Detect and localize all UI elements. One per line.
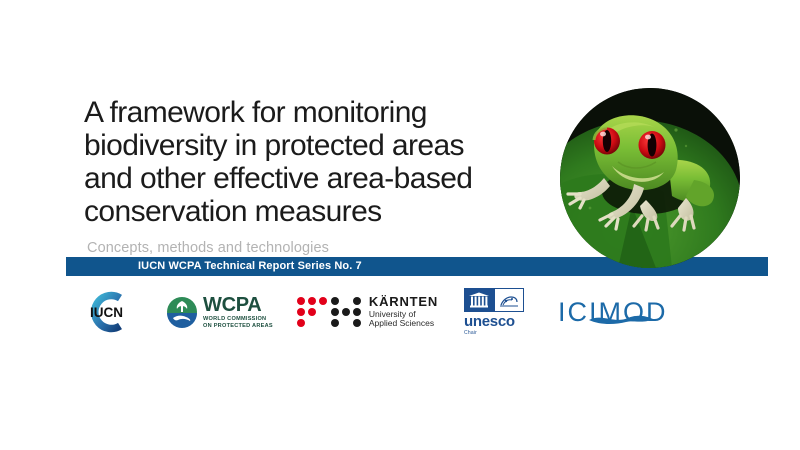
icimod-wave-icon [588,313,654,325]
kaernten-wordmark: KÄRNTEN [369,295,438,310]
logo-icimod: ICIMOD [558,287,668,337]
title-line-2: biodiversity in protected areas [84,129,524,162]
iucn-icon: IUCN [76,290,142,334]
kaernten-dot-grid-icon [297,297,361,327]
title-block: A framework for monitoring biodiversity … [84,96,524,256]
title-line-4: conservation measures [84,195,524,228]
page-title: A framework for monitoring biodiversity … [84,96,524,228]
kaernten-black-dots [331,297,361,327]
logo-wcpa: WCPA WORLD COMMISSION ON PROTECTED AREAS [166,287,273,337]
wcpa-emblem-icon [166,296,198,328]
svg-text:IUCN: IUCN [90,305,123,320]
logo-iucn: IUCN [76,287,148,337]
kaernten-wordmark-block: KÄRNTEN University of Applied Sciences [369,295,438,329]
kaernten-line-2: Applied Sciences [369,319,438,329]
unesco-chair-label: Chair [464,330,524,336]
wcpa-wordmark: WCPA [203,295,273,315]
title-line-1: A framework for monitoring [84,96,524,129]
page-subtitle: Concepts, methods and technologies [87,240,524,256]
unesco-chair-icon [494,289,524,311]
report-cover-page: A framework for monitoring biodiversity … [0,0,800,450]
unesco-wordmark: unesco [464,314,524,329]
red-eyed-tree-frog-photo [560,88,740,268]
unesco-temple-icon [465,289,494,311]
logo-kaernten: KÄRNTEN University of Applied Sciences [297,287,438,337]
wcpa-line-2: ON PROTECTED AREAS [203,324,273,330]
unesco-block: unesco Chair [464,288,524,336]
unesco-emblem-icon [464,288,524,312]
logo-unesco: unesco Chair [464,287,524,337]
wcpa-wordmark-block: WCPA WORLD COMMISSION ON PROTECTED AREAS [203,295,273,329]
wcpa-line-1: WORLD COMMISSION [203,317,273,323]
title-line-3: and other effective area-based [84,162,524,195]
series-banner-text: IUCN WCPA Technical Report Series No. 7 [138,257,362,276]
kaernten-red-dots [297,297,327,327]
logo-strip: IUCN WCPA WORLD COMMISSION ON PROTECTED … [66,283,768,341]
